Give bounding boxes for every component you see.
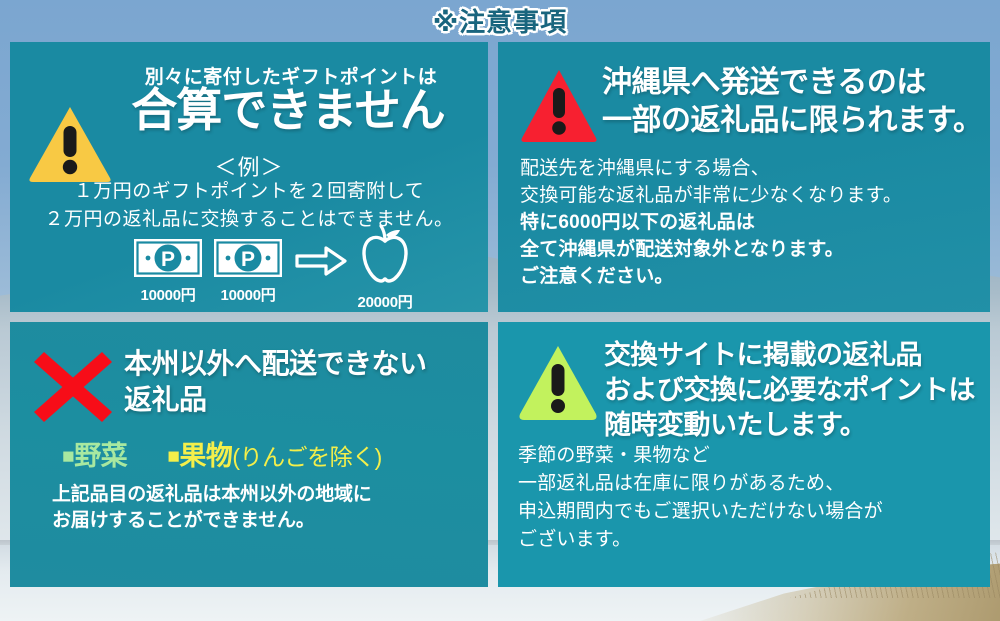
bl-headline-line-1: 本州以外へ配送できない: [124, 346, 484, 382]
tl-example-line-1: １万円のギフトポイントを２回寄附して: [10, 178, 488, 206]
tr-headline: 沖縄県へ発送できるのは 一部の返礼品に限られます。: [602, 64, 986, 141]
bl-footer: 上記品目の返礼品は本州以外の地域に お届けすることができません。: [52, 482, 482, 533]
bl-item-list: ■野菜 ■果物(りんごを除く): [62, 434, 488, 473]
bl-headline: 本州以外へ配送できない 返礼品: [124, 346, 484, 418]
point-note-icon: P: [213, 238, 283, 278]
bl-item-label-vegetables: 野菜: [74, 441, 127, 471]
bl-headline-line-2: 返礼品: [124, 382, 484, 418]
point-note-1-caption: 10000円: [129, 284, 207, 305]
tl-icon-row: P 10000円 P 10000円: [10, 238, 488, 308]
tr-body: 配送先を沖縄県にする場合、 交換可能な返礼品が非常に少なくなります。 特に600…: [520, 156, 980, 291]
bl-item-label-fruits: 果物: [179, 441, 232, 471]
bl-item-suffix-fruits: (りんごを除く): [232, 444, 381, 470]
br-headline-line-1: 交換サイトに掲載の返礼品: [604, 338, 988, 373]
square-bullet-yellow-icon: ■: [167, 445, 179, 468]
bl-footer-line-2: お届けすることができません。: [52, 508, 482, 534]
br-headline-line-3: 随時変動いたします。: [604, 408, 988, 443]
svg-text:P: P: [241, 248, 255, 271]
panel-gift-point-not-combinable: 別々に寄付したギフトポイントは 合算できません ＜例＞ １万円のギフトポイントを…: [10, 42, 488, 312]
tr-body-line-4: 全て沖縄県が配送対象外となります。: [520, 237, 980, 264]
point-note-2: P 10000円: [209, 238, 287, 305]
bl-footer-line-1: 上記品目の返礼品は本州以外の地域に: [52, 482, 482, 508]
panel-okinawa-shipping-limited: 沖縄県へ発送できるのは 一部の返礼品に限られます。 配送先を沖縄県にする場合、 …: [498, 42, 990, 312]
header: ※注意事項: [0, 2, 1000, 38]
br-headline: 交換サイトに掲載の返礼品 および交換に必要なポイントは 随時変動いたします。: [604, 338, 988, 443]
panel-no-shipping-outside-honshu: 本州以外へ配送できない 返礼品 ■野菜 ■果物(りんごを除く) 上記品目の返礼品…: [10, 322, 488, 587]
list-item-fruits: ■果物(りんごを除く): [167, 441, 382, 471]
point-note-icon: P: [133, 238, 203, 278]
tr-headline-line-2: 一部の返礼品に限られます。: [602, 102, 986, 140]
notice-infographic: ※注意事項 別々に寄付したギフトポイントは 合算できません ＜例＞ １万円のギフ…: [0, 0, 1000, 621]
br-body-line-3: 申込期間内でもご選択いただけない場合が: [518, 498, 988, 526]
tr-headline-line-1: 沖縄県へ発送できるのは: [602, 64, 986, 102]
tr-body-line-5: ご注意ください。: [520, 264, 980, 291]
br-body-line-1: 季節の野菜・果物など: [518, 442, 988, 470]
tr-body-line-2: 交換可能な返礼品が非常に少なくなります。: [520, 183, 980, 210]
br-body-line-4: ございます。: [518, 526, 988, 554]
point-note-1: P 10000円: [129, 238, 207, 305]
br-headline-line-2: および交換に必要なポイントは: [604, 373, 988, 408]
page-title: ※注意事項: [433, 2, 567, 39]
warning-triangle-green-icon: [518, 344, 598, 425]
panel-rewards-subject-to-change: 交換サイトに掲載の返礼品 および交換に必要なポイントは 随時変動いたします。 季…: [498, 322, 990, 587]
warning-triangle-red-icon: [520, 68, 598, 147]
list-item-vegetables: ■野菜: [62, 441, 134, 471]
point-note-2-caption: 10000円: [209, 284, 287, 305]
apple-icon: [355, 224, 415, 286]
tr-body-line-3: 特に6000円以下の返礼品は: [520, 210, 980, 237]
apple-reward-caption: 20000円: [335, 291, 435, 312]
tr-body-line-1: 配送先を沖縄県にする場合、: [520, 156, 980, 183]
x-mark-icon: [32, 350, 114, 429]
square-bullet-green-icon: ■: [62, 445, 74, 468]
br-body: 季節の野菜・果物など 一部返礼品は在庫に限りがあるため、 申込期間内でもご選択い…: [518, 442, 988, 554]
apple-reward: 20000円: [335, 224, 435, 312]
tl-headline: 合算できません: [88, 86, 488, 134]
br-body-line-2: 一部返礼品は在庫に限りがあるため、: [518, 470, 988, 498]
svg-text:P: P: [161, 248, 175, 271]
